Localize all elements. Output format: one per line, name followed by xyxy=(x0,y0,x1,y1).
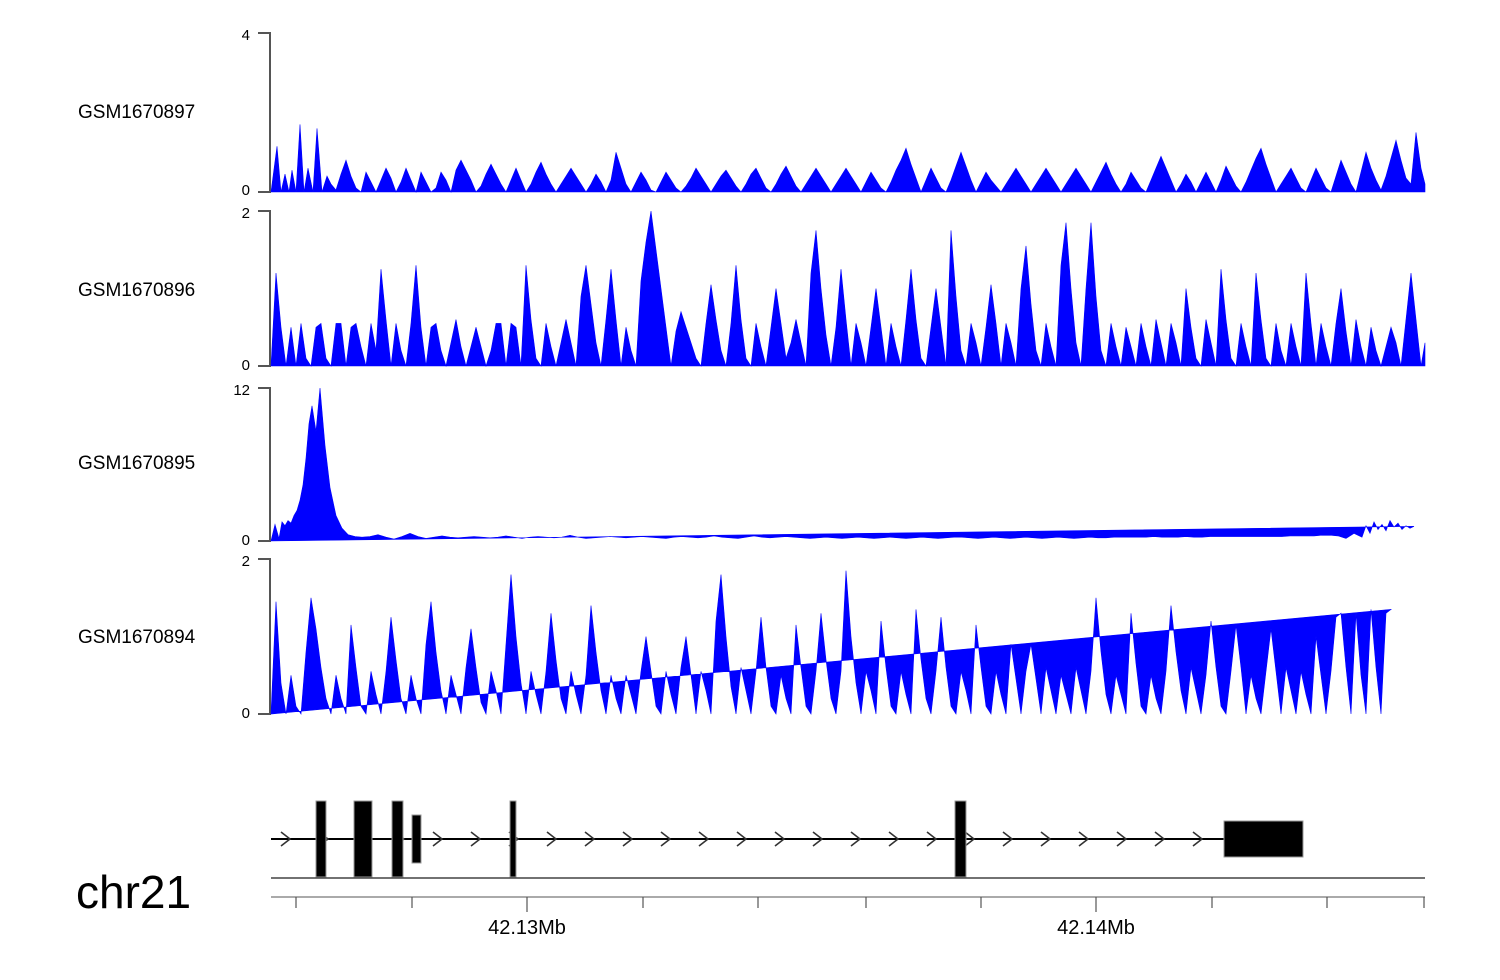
coverage-track-gsm1670897[interactable] xyxy=(255,28,1430,198)
track-axis-min-2: 0 xyxy=(222,357,250,374)
track-axis-min-4: 0 xyxy=(222,705,250,722)
track-axis-min-3: 0 xyxy=(222,532,250,549)
track-axis-max-4: 2 xyxy=(222,553,250,570)
genome-browser-view: GSM1670897 4 0 GSM1670896 2 0 GSM1670895… xyxy=(0,0,1500,980)
track-axis-max-1: 4 xyxy=(222,27,250,44)
track-axis-min-1: 0 xyxy=(222,182,250,199)
track-label-gsm1670897: GSM1670897 xyxy=(78,102,195,124)
axis-tick-label-42-14mb: 42.14Mb xyxy=(1036,917,1156,940)
coverage-track-gsm1670895[interactable] xyxy=(255,383,1430,547)
track-label-gsm1670894: GSM1670894 xyxy=(78,627,195,649)
track-label-gsm1670895: GSM1670895 xyxy=(78,453,195,475)
axis-tick-label-42-13mb: 42.13Mb xyxy=(467,917,587,940)
coverage-track-gsm1670896[interactable] xyxy=(255,206,1430,372)
coordinate-axis-ruler[interactable] xyxy=(255,872,1445,912)
track-axis-max-2: 2 xyxy=(222,205,250,222)
coverage-track-gsm1670894[interactable] xyxy=(255,554,1430,720)
track-axis-max-3: 12 xyxy=(214,382,250,399)
gene-model-track[interactable] xyxy=(255,790,1445,882)
track-label-gsm1670896: GSM1670896 xyxy=(78,280,195,302)
chromosome-label: chr21 xyxy=(76,865,191,919)
